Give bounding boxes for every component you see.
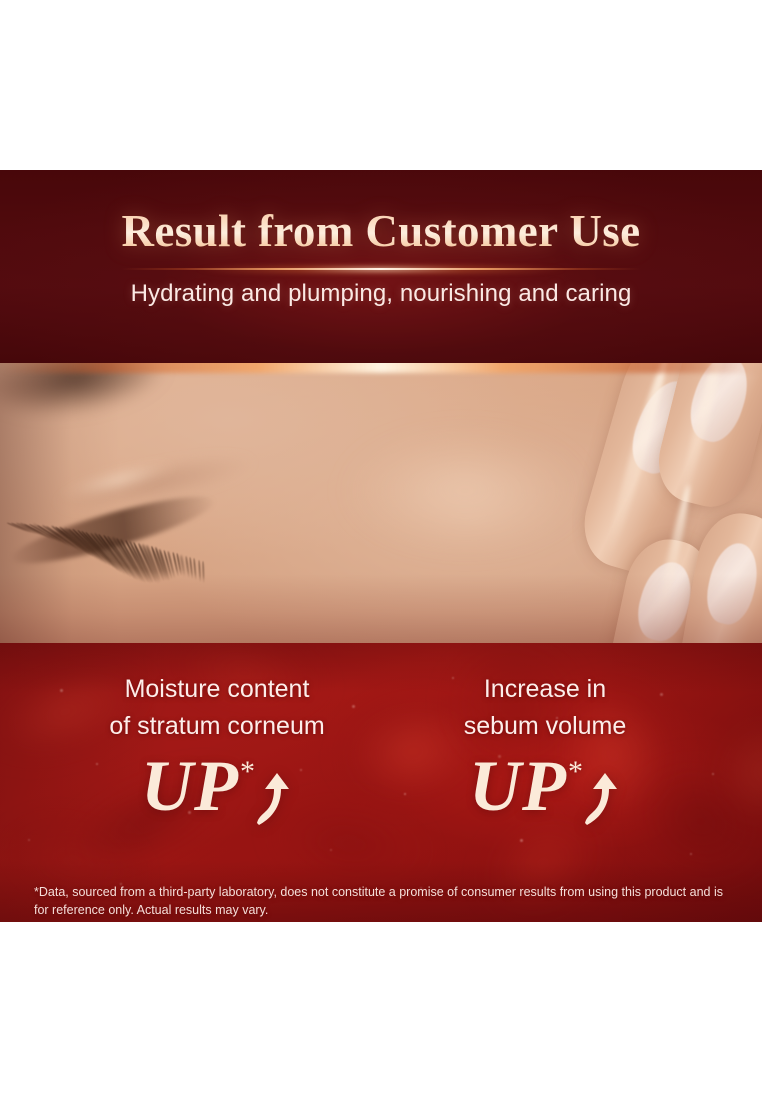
bottom-white-margin <box>0 922 762 1100</box>
claim-label-line1: Moisture content <box>67 671 367 708</box>
page-title: Result from Customer Use <box>0 208 762 256</box>
top-white-margin <box>0 0 762 170</box>
claim-value: UP <box>469 751 567 822</box>
claim-value-row: UP * <box>67 751 367 827</box>
page-subtitle: Hydrating and plumping, nourishing and c… <box>0 280 762 308</box>
claim-value: UP <box>141 751 239 822</box>
claim-label-line2: of stratum corneum <box>67 708 367 745</box>
claims-grid: Moisture content of stratum corneum UP *… <box>0 671 762 827</box>
lens-flare-divider-icon <box>121 265 641 274</box>
photo-bottom-shade <box>0 574 762 644</box>
lens-flare-streak-icon <box>0 363 762 373</box>
claim-value-row: UP * <box>395 751 695 827</box>
flare-core <box>121 268 641 270</box>
claim-sebum: Increase in sebum volume UP * <box>395 671 695 827</box>
flare-halo <box>194 265 568 274</box>
claims-panel: Moisture content of stratum corneum UP *… <box>0 643 762 922</box>
claim-moisture: Moisture content of stratum corneum UP * <box>67 671 367 827</box>
curved-up-arrow-icon <box>581 773 621 825</box>
curved-up-arrow-icon <box>253 773 293 825</box>
disclaimer-text: *Data, sourced from a third-party labora… <box>34 884 734 920</box>
claim-label-line1: Increase in <box>395 671 695 708</box>
promo-page: Result from Customer Use Hydrating and p… <box>0 0 762 1100</box>
claim-label-line2: sebum volume <box>395 708 695 745</box>
header-banner: Result from Customer Use Hydrating and p… <box>0 170 762 363</box>
hero-photo <box>0 363 762 644</box>
